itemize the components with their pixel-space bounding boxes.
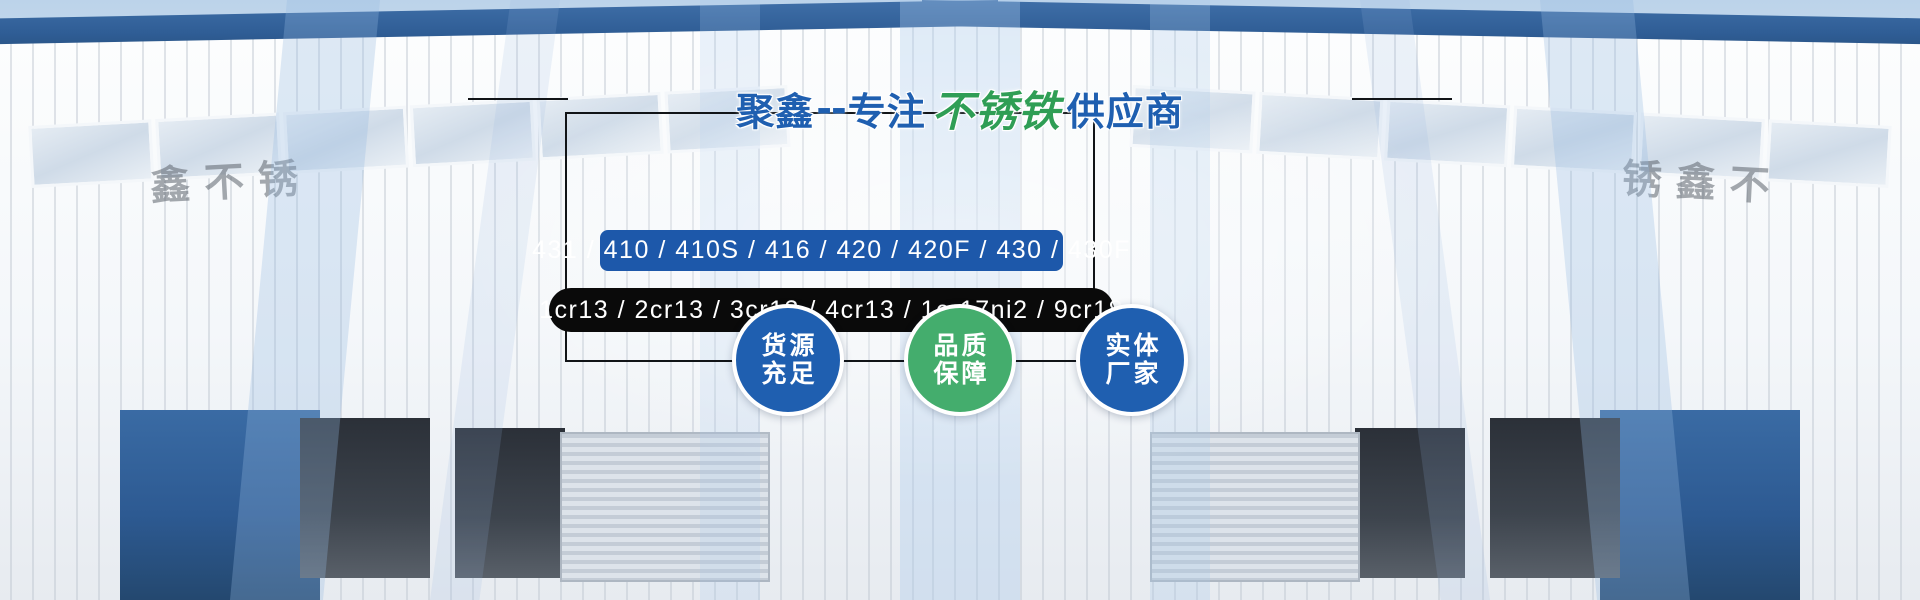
badge-line-1: 品质 — [930, 332, 989, 361]
headline-dash: -- — [814, 87, 848, 131]
badge-line-2: 厂家 — [1102, 360, 1161, 389]
badge-line-2: 保障 — [930, 360, 989, 389]
badge-line-1: 实体 — [1102, 332, 1161, 361]
badge-line-2: 充足 — [758, 360, 817, 389]
headline-brand: 聚鑫 — [736, 81, 814, 136]
steel-grades-primary-bar: 431 / 410 / 410S / 416 / 420 / 420F / 43… — [600, 230, 1063, 271]
page-title: 聚鑫--专注不锈铁供应商 — [0, 78, 1920, 139]
feature-badges: 货源 充足 品质 保障 实体 厂家 — [0, 304, 1920, 416]
badge-supply-sufficient: 货源 充足 — [732, 304, 844, 416]
badge-quality-guarantee: 品质 保障 — [904, 304, 1016, 416]
headline-supplier: 供应商 — [1067, 81, 1184, 136]
banner-content: 聚鑫--专注不锈铁供应商 431 / 410 / 410S / 416 / 42… — [0, 0, 1920, 600]
badge-line-1: 货源 — [758, 332, 817, 361]
headline-highlight: 不锈铁 — [926, 78, 1067, 139]
badge-real-factory: 实体 厂家 — [1076, 304, 1188, 416]
headline-focus: 专注 — [848, 81, 926, 136]
promo-banner: 鑫 不 锈 锈 鑫 不 聚鑫--专注不锈铁供应商 431 / 410 / 410… — [0, 0, 1920, 600]
